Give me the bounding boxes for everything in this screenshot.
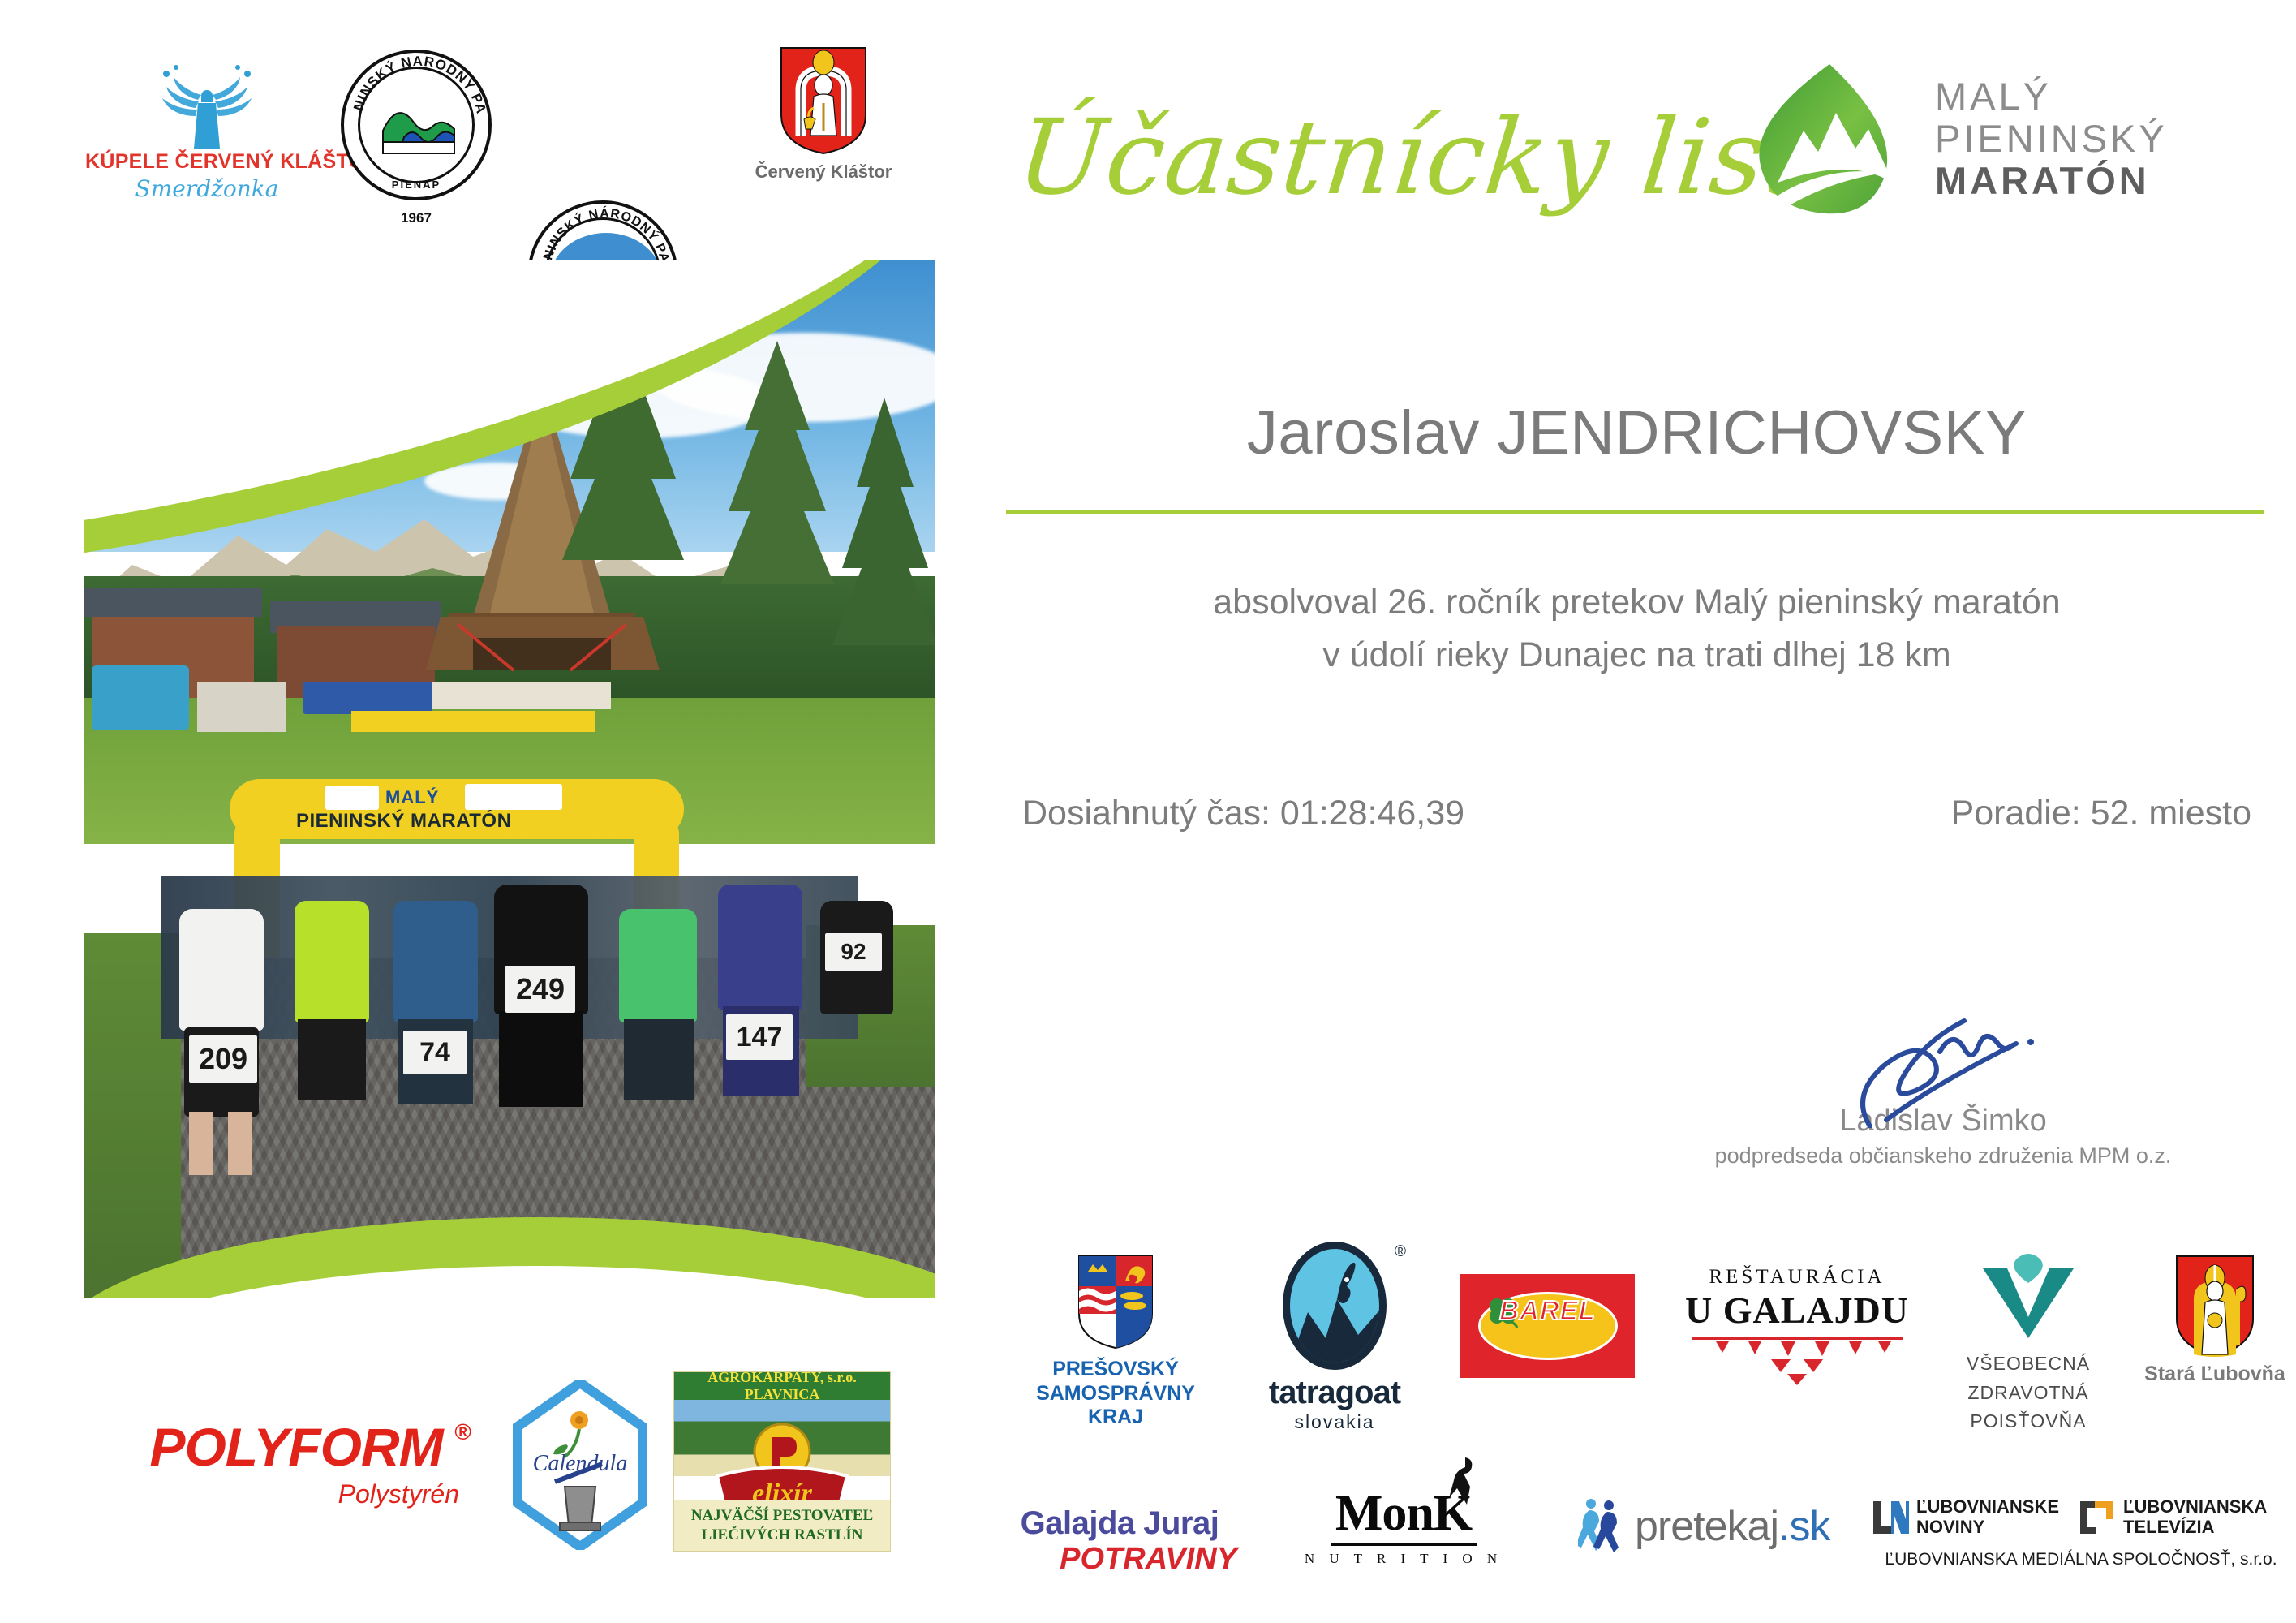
top-partner-logos: KÚPELE ČERVENÝ KLÁŠTOR Smerdžonka PIENIN…	[85, 45, 961, 231]
sponsor-restauracia-u-galajdu: REŠTAURÁCIA U GALAJDU	[1679, 1266, 1915, 1385]
sponsor-lubovnianska-medialna-spolocnost: ĽUBOVNIANSKE NOVINY ĽUBOVNIANSKA TELEVÍZ…	[1870, 1497, 2292, 1569]
bib-number: 74	[403, 1031, 467, 1074]
sponsor-label: ĽUBOVNIANSKE NOVINY	[1916, 1497, 2059, 1537]
partner-logo-cerveny-klastor: Červený Kláštor	[734, 45, 913, 183]
sponsor-label: pretekaj.sk	[1635, 1502, 1829, 1551]
tv-monogram-icon	[2077, 1498, 2116, 1537]
vzp-heart-chevron-icon	[1980, 1254, 2077, 1340]
event-logo-line1: MALÝ	[1935, 75, 2168, 118]
partner-subtitle-smerdzonka: Smerdžonka	[85, 175, 329, 202]
media-brand-noviny: ĽUBOVNIANSKE NOVINY	[1870, 1497, 2059, 1537]
bib-number: 209	[189, 1035, 257, 1083]
arch-logo-patch	[325, 786, 379, 810]
signatory-role: podpredseda občianskeho združenia MPM o.…	[1639, 1143, 2247, 1169]
tables	[432, 682, 611, 709]
photo-scene: MALÝ PIENINSKÝ MARATÓN 209	[84, 260, 935, 1298]
tent	[197, 682, 286, 732]
sponsor-vseobecna-zdravotna-poistovna: VŠEOBECNÁ ZDRAVOTNÁ POISŤOVŇA	[1939, 1254, 2118, 1436]
region-coat-of-arms-icon	[1077, 1254, 1154, 1350]
mortar-flower-icon: Calendula	[513, 1380, 647, 1550]
sponsor-label: Stará Ľubovňa	[2134, 1363, 2296, 1387]
page-title: Účastnícky list	[1012, 97, 1813, 218]
certificate-body-line1: absolvoval 26. ročník pretekov Malý pien…	[1002, 583, 2272, 622]
bishop-coat-of-arms-icon	[2174, 1254, 2255, 1358]
sponsor-tatragoat: ® tatragoat slovakia	[1237, 1242, 1432, 1433]
handwritten-signature-icon	[1639, 1006, 2247, 1112]
sponsor-agrokarpaty-elixir: AGROKARPATY, s.r.o. PLAVNICA elixír NAJV…	[673, 1371, 892, 1552]
arch-text-line2: PIENINSKÝ MARATÓN	[296, 810, 511, 833]
two-runners-icon	[1578, 1497, 1628, 1556]
sponsor-sublabel: Polystyrén	[105, 1479, 487, 1509]
sponsor-monk-nutrition: MonK N U T R I T I O N	[1290, 1485, 1517, 1567]
recipient-name: Jaroslav JENDRICHOVSKY	[1002, 398, 2272, 468]
finish-time: Dosiahnutý čas: 01:28:46,39	[1022, 794, 1464, 833]
sponsor-footer-label: ĽUBOVNIANSKA MEDIÁLNA SPOLOČNOSŤ, s.r.o.	[1870, 1550, 2292, 1569]
sponsor-sublabel: N U T R I T I O N	[1290, 1551, 1517, 1567]
sponsor-presovsky-samospravny-kraj: PREŠOVSKÝ SAMOSPRÁVNY KRAJ	[1018, 1254, 1213, 1430]
registered-mark: ®	[454, 1419, 471, 1445]
event-logo-text: MALÝ PIENINSKÝ MARATÓN	[1935, 75, 2168, 203]
pienap-label: PIENAP	[344, 179, 488, 191]
roof	[84, 588, 262, 617]
barel-logo: BAREL	[1460, 1274, 1635, 1378]
bib-number: 92	[825, 933, 882, 971]
sponsor-label: Galajda Juraj	[1002, 1505, 1237, 1542]
sponsor-label: PREŠOVSKÝ SAMOSPRÁVNY KRAJ	[1018, 1358, 1213, 1430]
bib-number: 249	[505, 966, 575, 1013]
pienap-emblem-icon	[376, 98, 462, 160]
sponsor-header-label: AGROKARPATY, s.r.o. PLAVNICA	[674, 1372, 890, 1400]
bib-number: 147	[726, 1014, 793, 1060]
result-row: Dosiahnutý čas: 01:28:46,39 Poradie: 52.…	[1002, 794, 2272, 833]
sponsor-footer-label: NAJVÄČŠÍ PESTOVATEĽ LIEČIVÝCH RASTLÍN	[674, 1500, 890, 1551]
partner-logo-kupele-cerveny-klastor: KÚPELE ČERVENÝ KLÁŠTOR Smerdžonka	[85, 53, 329, 202]
sponsor-label: POLYFORM®	[149, 1416, 442, 1478]
media-brand-televizia: ĽUBOVNIANSKA TELEVÍZIA	[2077, 1497, 2267, 1537]
coat-of-arms-monk-icon	[778, 45, 869, 155]
folk-ornament-icon	[1679, 1335, 1915, 1385]
sponsor-polyform: POLYFORM® Polystyrén	[105, 1416, 487, 1509]
event-photo: MALÝ PIENINSKÝ MARATÓN 209	[84, 260, 935, 1298]
monk-silhouette-icon	[1446, 1456, 1481, 1505]
sponsor-stara-lubovna: Stará Ľubovňa	[2134, 1254, 2296, 1387]
runner-249: 249	[481, 885, 603, 1177]
event-logo: MALÝ PIENINSKÝ MARATÓN	[1748, 61, 2251, 215]
sponsor-sublabel: slovakia	[1237, 1411, 1432, 1433]
sponsor-galajda-juraj-potraviny: Galajda Juraj POTRAVINY	[1002, 1505, 1237, 1577]
event-logo-line3: MARATÓN	[1935, 159, 2168, 203]
runner-92: 92	[814, 901, 903, 1160]
sponsor-pretekaj-sk: pretekaj.sk	[1578, 1497, 1846, 1556]
sponsor-calendula: Calendula	[503, 1380, 657, 1550]
sponsor-label: tatragoat	[1237, 1375, 1432, 1411]
arch-text-line1: MALÝ	[385, 787, 439, 808]
runner-crowd-member	[611, 909, 708, 1169]
certificate-page: KÚPELE ČERVENÝ KLÁŠTOR Smerdžonka PIENIN…	[0, 0, 2296, 1623]
accent-divider	[1006, 510, 2264, 514]
finish-rank: Poradie: 52. miesto	[1951, 794, 2251, 833]
partner-name-kupele: KÚPELE ČERVENÝ KLÁŠTOR	[85, 150, 329, 174]
sponsor-sublabel: REŠTAURÁCIA	[1679, 1266, 1915, 1289]
arch-logo-patch	[465, 784, 562, 810]
ln-monogram-icon	[1870, 1498, 1909, 1537]
event-logo-line2: PIENINSKÝ	[1935, 118, 2168, 160]
pienap-year: 1967	[344, 210, 488, 226]
agro-card: AGROKARPATY, s.r.o. PLAVNICA elixír NAJV…	[673, 1371, 891, 1552]
sponsor-sublabel: POTRAVINY	[1002, 1542, 1237, 1577]
media-brands-row: ĽUBOVNIANSKE NOVINY ĽUBOVNIANSKA TELEVÍZ…	[1870, 1497, 2292, 1537]
sponsor-label: VŠEOBECNÁ ZDRAVOTNÁ POISŤOVŇA	[1939, 1350, 2118, 1436]
tent	[303, 682, 432, 714]
sponsor-barel: BAREL	[1460, 1274, 1647, 1378]
runner-209: 209	[165, 909, 278, 1177]
sponsor-label: BAREL	[1460, 1295, 1635, 1326]
registered-mark: ®	[1395, 1243, 1406, 1261]
certificate-body-line2: v údolí rieky Dunajec na trati dlhej 18 …	[1002, 635, 2272, 675]
runner-74: 74	[384, 901, 489, 1177]
barrier	[351, 711, 595, 732]
partner-logo-pienap: PIENINSKÝ NÁRODNÝ PARK PIENAP 1967	[341, 50, 492, 200]
tent	[92, 665, 189, 730]
sponsor-label: ĽUBOVNIANSKA TELEVÍZIA	[2123, 1497, 2267, 1537]
green-leaf-mountain-icon	[1748, 61, 1915, 215]
partner-name-cerveny-klastor: Červený Kláštor	[734, 161, 913, 183]
pine-tree	[818, 398, 935, 665]
runner-crowd-member	[286, 901, 376, 1169]
signature-block: Ladislav Šimko podpredseda občianskeho z…	[1639, 1006, 2247, 1169]
sponsor-label: U GALAJDU	[1679, 1289, 1915, 1332]
goat-mountain-oval-icon	[1283, 1242, 1387, 1370]
water-angel-icon	[85, 53, 329, 150]
runner-147: 147	[708, 885, 814, 1169]
